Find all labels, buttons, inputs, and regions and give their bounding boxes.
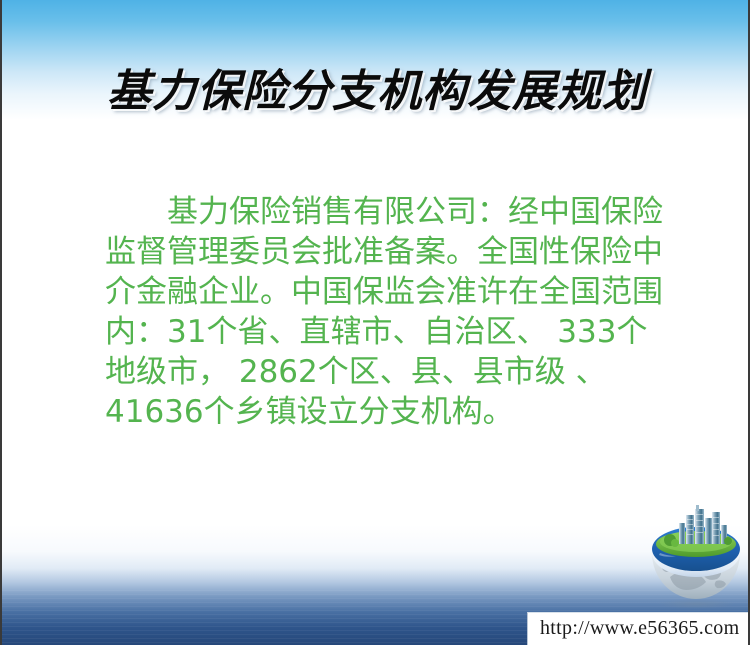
slide-canvas: 基力保险分支机构发展规划 基力保险销售有限公司：经中国保险监督管理委员会批准备案… bbox=[0, 0, 750, 645]
globe-city-icon bbox=[642, 505, 750, 609]
globe-shadow bbox=[656, 599, 736, 609]
globe-city-graphic bbox=[642, 505, 750, 615]
slide-title: 基力保险分支机构发展规划 bbox=[2, 55, 750, 119]
site-watermark: http://www.e56365.com bbox=[527, 612, 748, 645]
slide-body-paragraph: 基力保险销售有限公司：经中国保险监督管理委员会批准备案。全国性保险中介金融企业。… bbox=[105, 192, 675, 432]
